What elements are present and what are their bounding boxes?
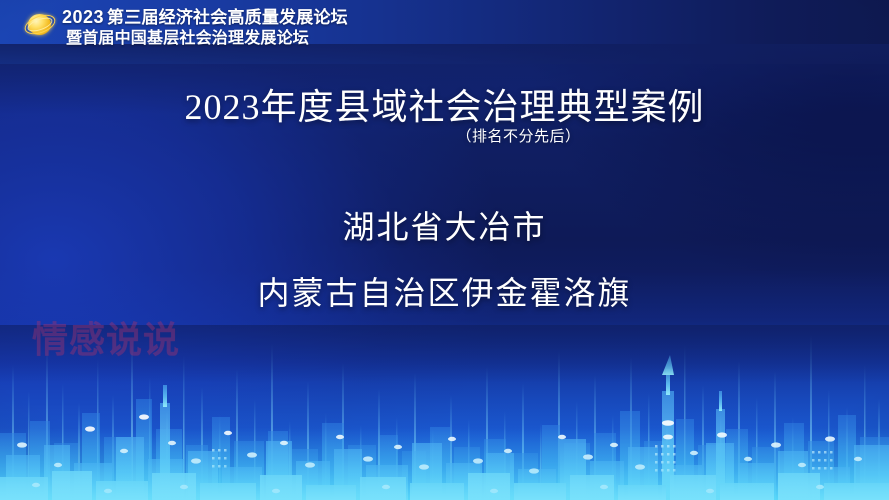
watermark: 情感说说	[32, 311, 180, 363]
ranking-note: （排名不分先后）	[0, 125, 889, 146]
forum-logo: 2023第三届经济社会高质量发展论坛 暨首届中国基层社会治理发展论坛	[25, 8, 348, 47]
forum-logo-text: 2023第三届经济社会高质量发展论坛 暨首届中国基层社会治理发展论坛	[62, 8, 348, 47]
forum-title-line-1: 2023第三届经济社会高质量发展论坛	[62, 8, 348, 26]
forum-title-line-1-text: 第三届经济社会高质量发展论坛	[107, 8, 348, 27]
award-entry-1: 湖北省大冶市	[0, 202, 889, 248]
poster-slide: 2023第三届经济社会高质量发展论坛 暨首届中国基层社会治理发展论坛 2023年…	[0, 0, 889, 500]
award-entry-2: 内蒙古自治区伊金霍洛旗	[0, 268, 889, 314]
page-title: 2023年度县域社会治理典型案例	[0, 78, 889, 130]
globe-orbit-emblem	[25, 10, 55, 40]
forum-year: 2023	[62, 7, 104, 27]
forum-title-line-2: 暨首届中国基层社会治理发展论坛	[66, 31, 348, 47]
